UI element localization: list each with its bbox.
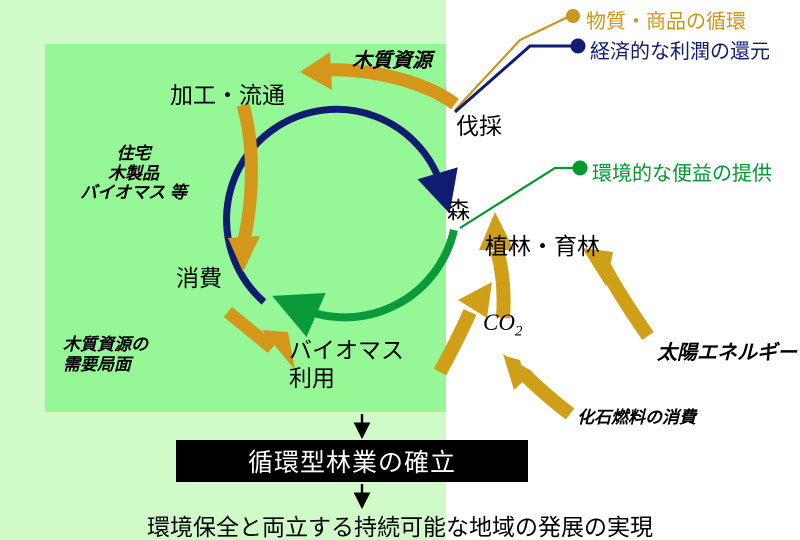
economic-return-arc — [227, 109, 442, 302]
environmental-benefit-arc — [300, 230, 454, 317]
demand-phase-note: 木質資源の 需要局面 — [63, 335, 148, 374]
consumption-to-biomass-arrow — [228, 312, 295, 370]
diagram-canvas: 加工・流通 住宅 木製品 バイオマス 等 消費 バイオマス 利用 木質資源の 需… — [0, 0, 800, 540]
node-forest-label: 森 — [447, 197, 470, 223]
legend-item-material-cycle: 物質・商品の循環 — [586, 5, 746, 34]
solar-energy-to-planting-arrow — [582, 248, 648, 336]
co2-main: CO — [483, 310, 515, 335]
node-products-label: 住宅 木製品 バイオマス 等 — [61, 144, 206, 203]
co2-subscript: 2 — [515, 324, 523, 340]
legend-item-economic-return: 経済的な利潤の還元 — [590, 35, 770, 64]
node-consumption-label: 消費 — [176, 265, 222, 291]
node-processing-label: 加工・流通 — [170, 82, 285, 108]
legend-connector-green — [460, 161, 588, 229]
wood-resource-label: 木質資源 — [352, 50, 432, 73]
legend-item-environmental-benefit: 環境的な便益の提供 — [592, 157, 772, 186]
goal-banner: 循環型林業の確立 — [176, 440, 528, 482]
node-biomass-use-label: バイオマス 利用 — [289, 336, 404, 392]
co2-label: CO2 — [483, 310, 522, 341]
node-harvest-label: 伐採 — [456, 113, 502, 139]
fossil-fuel-to-co2-arrow — [503, 354, 570, 414]
legend-connector-navy — [455, 39, 586, 113]
outcome-caption: 環境保全と両立する持続可能な地域の発展の実現 — [0, 508, 800, 540]
node-planting-label: 植林・育林 — [485, 233, 600, 259]
solar-energy-label: 太陽エネルギー — [657, 342, 797, 365]
fossil-fuel-label: 化石燃料の消費 — [577, 408, 696, 428]
